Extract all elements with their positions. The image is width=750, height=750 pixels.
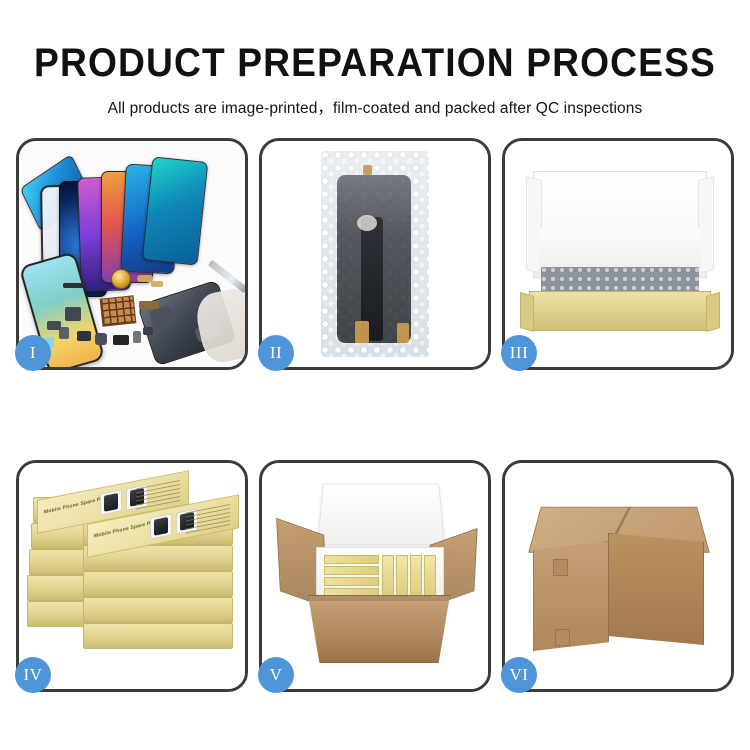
carton-body bbox=[308, 595, 450, 663]
spare-part bbox=[95, 333, 107, 345]
header: PRODUCT PREPARATION PROCESS All products… bbox=[0, 0, 750, 118]
stacked-box bbox=[83, 623, 233, 649]
spare-part bbox=[47, 321, 61, 330]
gold-contact bbox=[355, 321, 369, 343]
packed-box-group bbox=[382, 555, 437, 597]
open-flat-box-panel bbox=[505, 141, 731, 367]
spare-part bbox=[113, 335, 129, 345]
process-step-1: I bbox=[16, 138, 248, 370]
bubble-wrap-bag bbox=[321, 151, 429, 357]
sealed-carton-panel bbox=[505, 463, 731, 689]
box-window bbox=[150, 513, 172, 539]
box-spec-lines bbox=[136, 479, 180, 510]
foam-carton-panel bbox=[262, 463, 488, 689]
packed-box-group bbox=[324, 555, 379, 597]
box-window bbox=[100, 489, 122, 515]
product-preparation-infographic: PRODUCT PREPARATION PROCESS All products… bbox=[0, 0, 750, 750]
process-step-3: III bbox=[502, 138, 734, 370]
carton-left-face bbox=[533, 541, 609, 651]
bubble-wrap-panel bbox=[262, 141, 488, 367]
stacked-box bbox=[83, 571, 233, 597]
process-step-4: Mobile Phone Spare Parts Mobile Phone Sp… bbox=[16, 460, 248, 692]
spare-part bbox=[151, 281, 163, 287]
stacked-box bbox=[83, 597, 233, 623]
step-badge-6: VI bbox=[501, 657, 537, 693]
box-body-yellow bbox=[529, 291, 711, 331]
spare-part bbox=[63, 283, 85, 288]
step-badge-3: III bbox=[501, 335, 537, 371]
step-badge-4: IV bbox=[15, 657, 51, 693]
box-stack: Mobile Phone Spare Parts Mobile Phone Sp… bbox=[27, 489, 243, 673]
gold-contact bbox=[397, 323, 409, 343]
page-title: PRODUCT PREPARATION PROCESS bbox=[26, 42, 724, 84]
spare-part bbox=[77, 331, 91, 341]
step-badge-1: I bbox=[15, 335, 51, 371]
carton-tape-patch bbox=[553, 559, 568, 576]
packed-boxes bbox=[324, 555, 436, 597]
chip-grid-component bbox=[100, 295, 137, 326]
carton-right-face bbox=[608, 533, 704, 645]
spare-part bbox=[65, 307, 81, 321]
process-step-2: II bbox=[259, 138, 491, 370]
spare-part bbox=[143, 327, 153, 335]
step-badge-2: II bbox=[258, 335, 294, 371]
gold-contact bbox=[363, 165, 372, 175]
step-badge-5: V bbox=[258, 657, 294, 693]
connector bbox=[357, 215, 377, 231]
process-step-grid: I II III bbox=[16, 138, 734, 692]
gold-component-icon bbox=[111, 269, 131, 289]
spare-part bbox=[139, 301, 159, 309]
page-subtitle: All products are image-printed，film-coat… bbox=[0, 96, 750, 118]
box-spec-lines bbox=[186, 503, 230, 534]
phone-screen-teal bbox=[142, 156, 209, 265]
process-step-5: V bbox=[259, 460, 491, 692]
carton-tape-patch bbox=[555, 629, 570, 646]
foam-lid bbox=[317, 484, 445, 546]
spare-part bbox=[133, 331, 141, 343]
process-step-6: VI bbox=[502, 460, 734, 692]
stacked-boxes-panel: Mobile Phone Spare Parts Mobile Phone Sp… bbox=[19, 463, 245, 689]
phone-parts-panel bbox=[19, 141, 245, 367]
foam-liner bbox=[539, 229, 701, 271]
